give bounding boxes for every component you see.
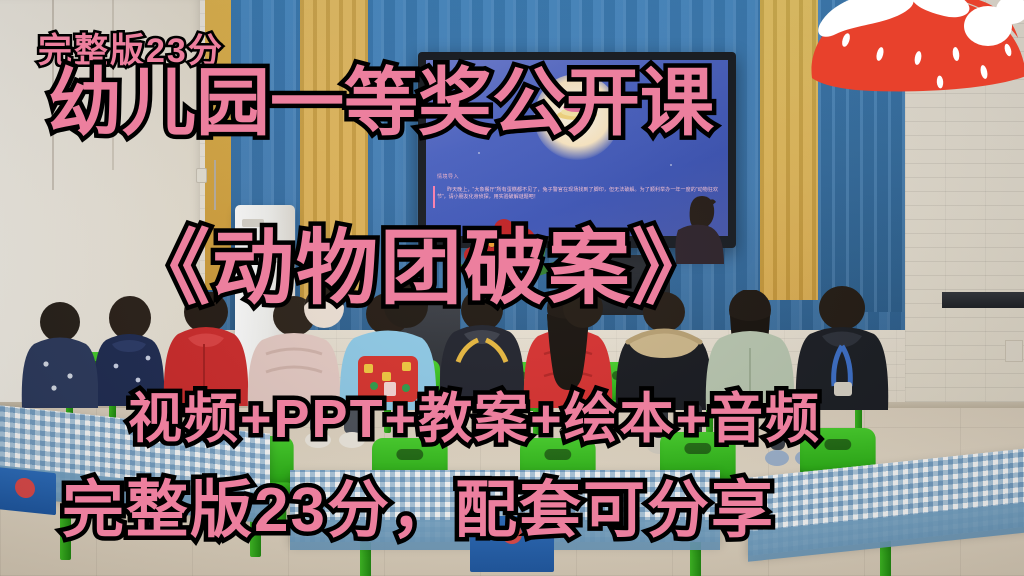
santa-hat-icon (760, 0, 1024, 120)
supply-box (0, 467, 56, 516)
slide-accent-bar (433, 186, 435, 208)
lesson-title: 《动物团破案》 (128, 228, 716, 310)
bundle-contents-text: 视频+PPT+教案+绘本+音频 (128, 392, 821, 446)
power-cord (214, 160, 216, 210)
wall-shelf (942, 292, 1024, 308)
wall-socket (1005, 340, 1023, 362)
wall-thermostat (196, 168, 207, 183)
slide-section-label: 情境导入 (437, 173, 459, 180)
child (18, 300, 98, 408)
page-title: 幼儿园一等奖公开课 (48, 66, 714, 140)
video-thumbnail: 情境导入 昨天晚上，“大象餐厅”所有蛋糕都不见了，兔子警官在现场找到了脚印，但无… (0, 0, 1024, 576)
cta-text: 完整版23分，配套可分享 (62, 480, 775, 542)
